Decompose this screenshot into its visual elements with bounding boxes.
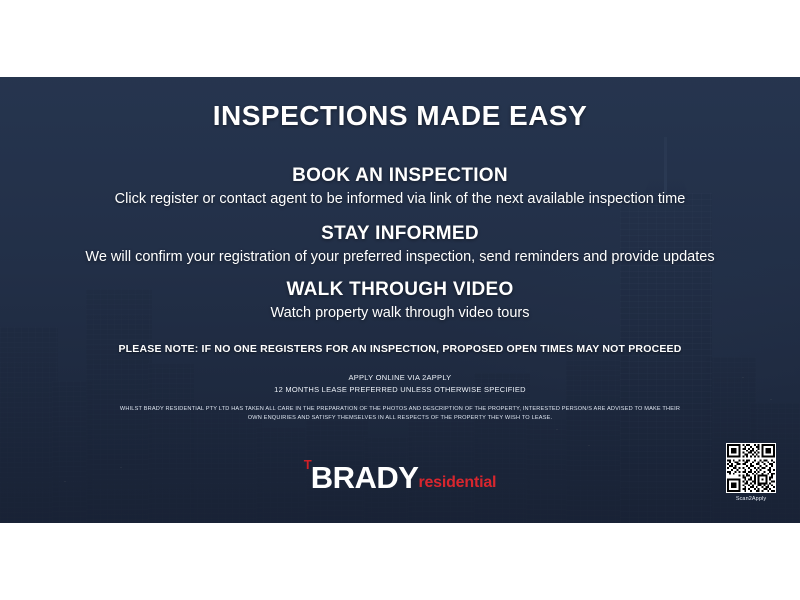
lease-term-line: 12 MONTHS LEASE PREFERRED UNLESS OTHERWI… bbox=[0, 384, 800, 396]
scan2apply-qr-block[interactable]: Scan2Apply bbox=[723, 443, 779, 502]
disclaimer-text: WHILST BRADY RESIDENTIAL PTY LTD HAS TAK… bbox=[80, 405, 720, 423]
banner-content: INSPECTIONS MADE EASY BOOK AN INSPECTION… bbox=[0, 77, 800, 523]
qr-caption: Scan2Apply bbox=[723, 496, 779, 502]
section-book-an-inspection: BOOK AN INSPECTION Click register or con… bbox=[0, 165, 800, 207]
logo-wordmark-residential: residential bbox=[418, 475, 496, 493]
inspection-banner: INSPECTIONS MADE EASY BOOK AN INSPECTION… bbox=[0, 77, 800, 523]
section-body-book-an-inspection: Click register or contact agent to be in… bbox=[0, 191, 800, 207]
logo-prefix-mark: T bbox=[304, 458, 312, 471]
section-walk-through-video: WALK THROUGH VIDEO Watch property walk t… bbox=[0, 279, 800, 321]
disclaimer-line-1: WHILST BRADY RESIDENTIAL PTY LTD HAS TAK… bbox=[80, 405, 720, 414]
poster-frame: INSPECTIONS MADE EASY BOOK AN INSPECTION… bbox=[0, 0, 800, 600]
brady-residential-logo: T BRADY residential bbox=[0, 462, 800, 502]
section-body-walk-through-video: Watch property walk through video tours bbox=[0, 305, 800, 321]
apply-info-block: APPLY ONLINE VIA 2APPLY 12 MONTHS LEASE … bbox=[0, 372, 800, 395]
please-note-text: PLEASE NOTE: IF NO ONE REGISTERS FOR AN … bbox=[0, 343, 800, 355]
section-title-walk-through-video: WALK THROUGH VIDEO bbox=[0, 279, 800, 301]
page-title: INSPECTIONS MADE EASY bbox=[0, 100, 800, 132]
apply-online-line: APPLY ONLINE VIA 2APPLY bbox=[0, 372, 800, 384]
disclaimer-line-2: OWN ENQUIRIES AND SATISFY THEMSELVES IN … bbox=[80, 414, 720, 423]
logo-wordmark-brady: BRADY bbox=[304, 462, 419, 493]
section-title-stay-informed: STAY INFORMED bbox=[0, 223, 800, 245]
section-title-book-an-inspection: BOOK AN INSPECTION bbox=[0, 165, 800, 187]
qr-code-icon[interactable] bbox=[726, 443, 776, 493]
section-body-stay-informed: We will confirm your registration of you… bbox=[0, 249, 800, 265]
section-stay-informed: STAY INFORMED We will confirm your regis… bbox=[0, 223, 800, 265]
